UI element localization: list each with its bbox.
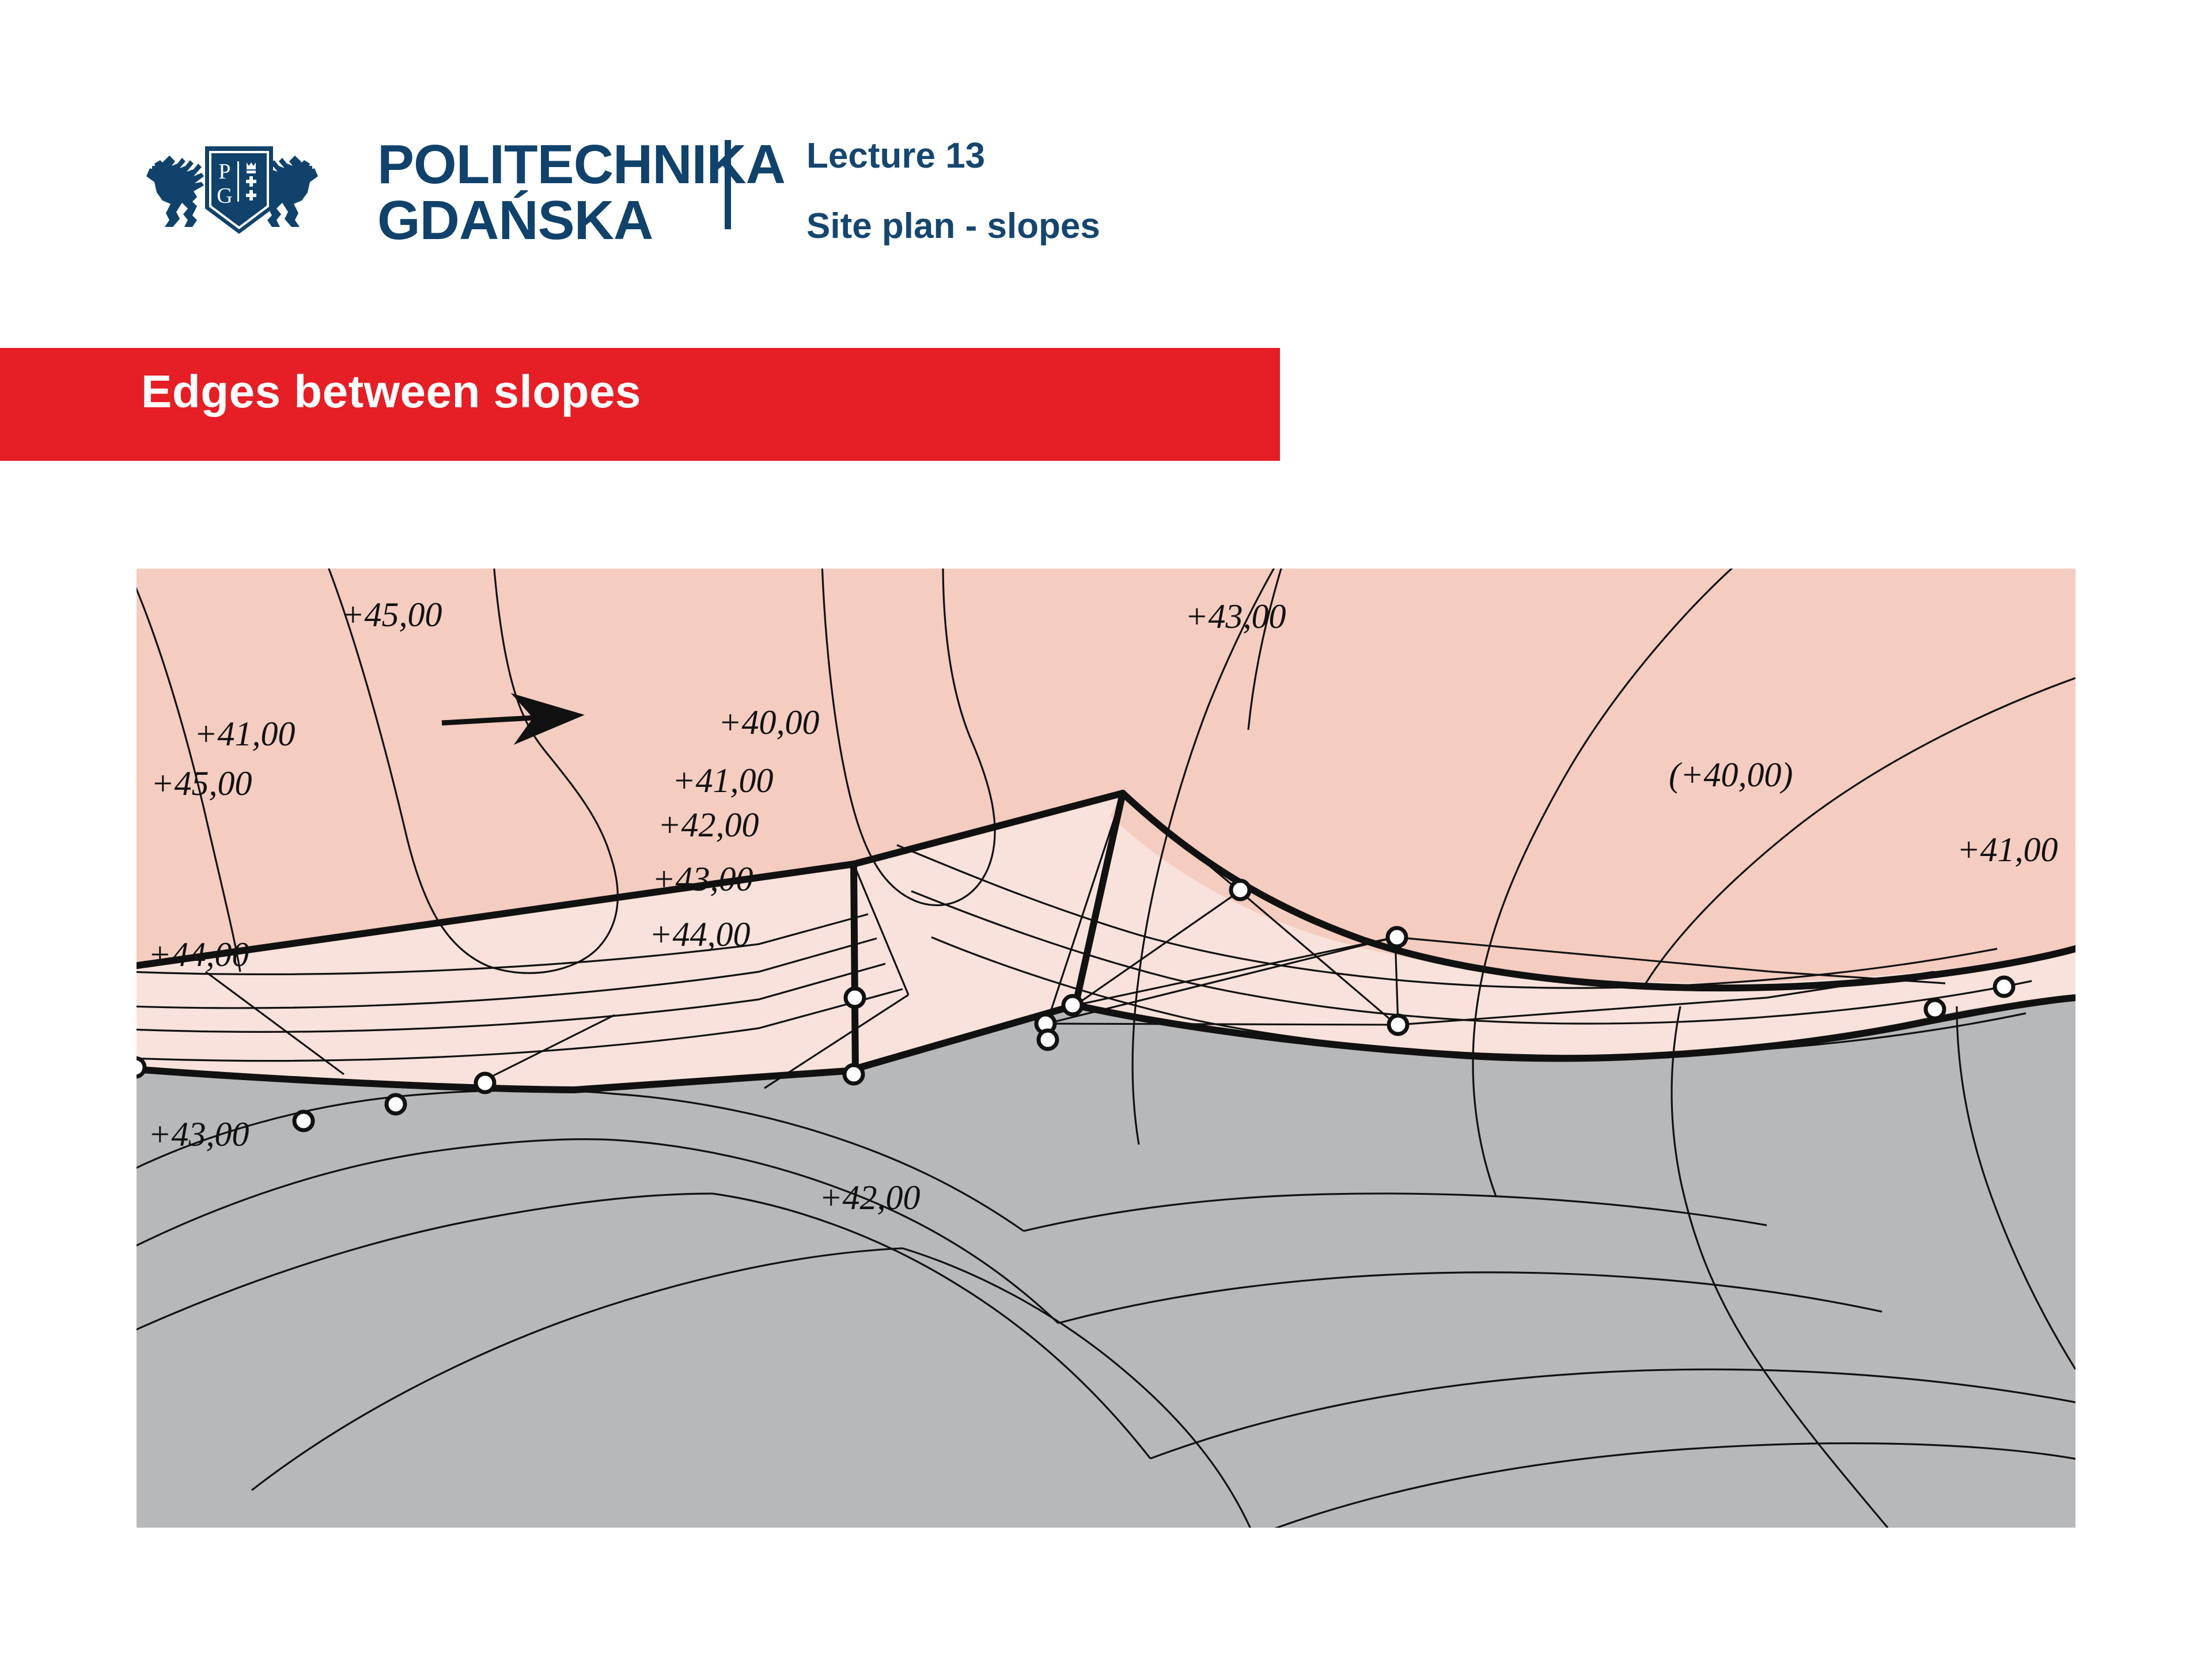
elevation-label: +41,00	[672, 762, 774, 800]
node-marker	[1926, 1000, 1944, 1018]
node-marker	[846, 988, 864, 1007]
node-marker	[1995, 978, 2013, 996]
elevation-label: (+40,00)	[1669, 756, 1793, 794]
wordmark-line-1: POLITECHNIKA	[377, 137, 785, 192]
node-marker	[1388, 928, 1406, 946]
interior-edge-vertical	[854, 864, 855, 1074]
header-divider	[725, 140, 731, 229]
crest-letter-g: G	[217, 184, 232, 208]
elevation-label: +44,00	[649, 915, 751, 953]
elevation-label: +41,00	[194, 715, 296, 753]
slope-edges-drawing: +45,00+43,00+41,00+40,00+41,00(+40,00)+4…	[137, 569, 2075, 1528]
elevation-label: +44,00	[148, 935, 249, 974]
elevation-label: +45,00	[151, 764, 252, 802]
node-marker	[387, 1095, 405, 1113]
politechnika-gdanska-logo: P G	[137, 128, 327, 249]
lecture-number: Lecture 13	[806, 138, 1100, 174]
elevation-label: +41,00	[1957, 831, 2058, 869]
elevation-label: +43,00	[148, 1115, 249, 1153]
page-title: Edges between slopes	[141, 369, 641, 415]
crest-icon: P G	[137, 128, 327, 249]
node-marker	[1389, 1016, 1407, 1034]
site-plan-diagram: +45,00+43,00+41,00+40,00+41,00(+40,00)+4…	[137, 569, 2075, 1528]
crest-letter-p: P	[218, 160, 230, 184]
node-marker	[476, 1074, 494, 1092]
elevation-label: +43,00	[652, 860, 753, 898]
elevation-label: +45,00	[341, 596, 442, 634]
elevation-label: +40,00	[718, 703, 820, 741]
elevation-label: +43,00	[1185, 597, 1286, 635]
lecture-heading: Lecture 13 Site plan - slopes	[806, 138, 1100, 244]
wordmark-line-2: GDAŃSKA	[377, 192, 785, 248]
slide-header: P G POLITECHNIKA GDAŃSKA Lecture 13 Site…	[0, 0, 2212, 300]
node-marker	[1231, 881, 1249, 899]
node-marker	[1063, 996, 1082, 1014]
node-marker	[1039, 1031, 1057, 1049]
university-wordmark: POLITECHNIKA GDAŃSKA	[377, 137, 785, 248]
node-marker	[844, 1065, 863, 1084]
lecture-topic: Site plan - slopes	[806, 209, 1100, 244]
node-marker	[137, 1058, 145, 1077]
node-marker	[294, 1112, 313, 1130]
elevation-label: +42,00	[658, 806, 759, 844]
elevation-label: +42,00	[819, 1179, 921, 1217]
